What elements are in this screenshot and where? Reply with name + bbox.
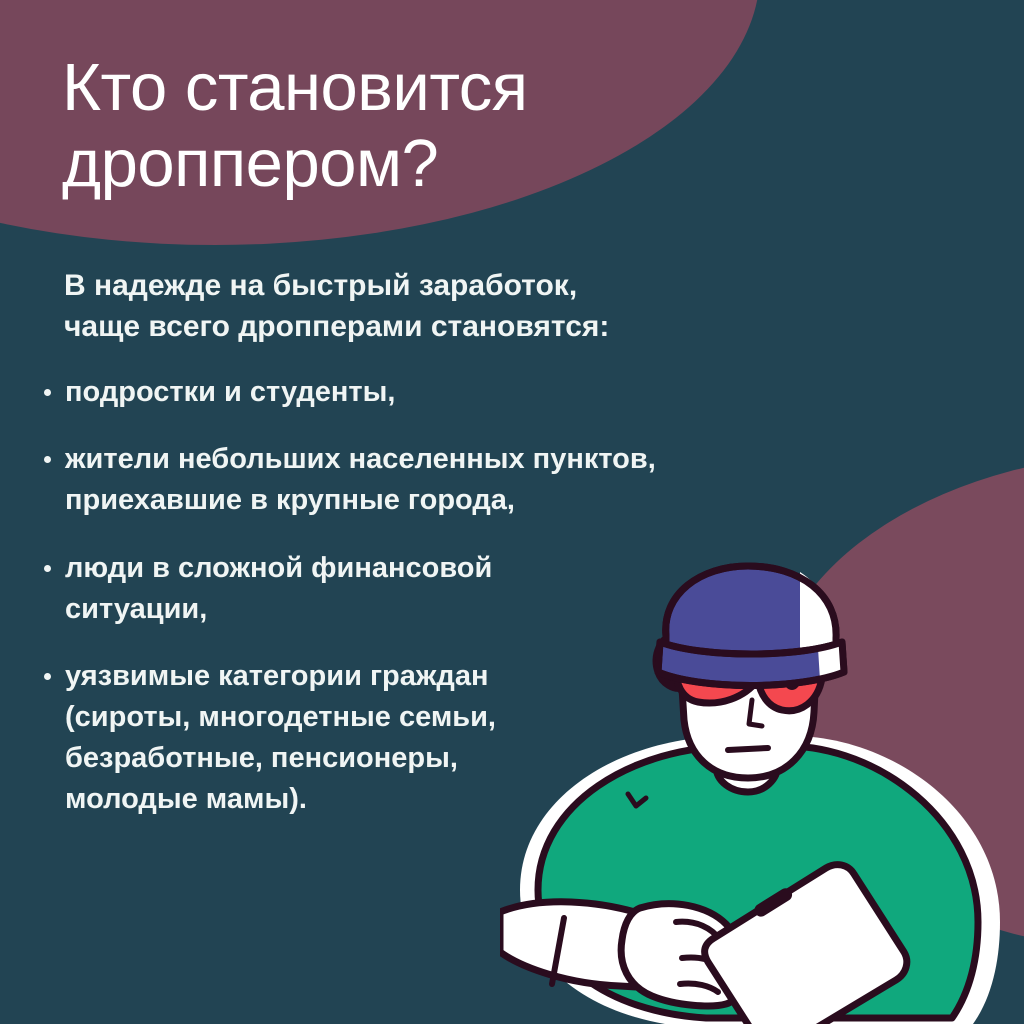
mouth: [728, 748, 768, 750]
page-title: Кто становится дроппером?: [62, 50, 762, 201]
illustration-masked-scammer: [500, 560, 1024, 1024]
list-item: подростки и студенты,: [42, 372, 762, 413]
beanie: [658, 566, 844, 686]
infographic-poster: Кто становится дроппером? В надежде на б…: [0, 0, 1024, 1024]
list-item: жители небольших населенных пунктов, при…: [42, 439, 762, 521]
intro-paragraph: В надежде на быстрый заработок, чаще все…: [64, 266, 764, 348]
